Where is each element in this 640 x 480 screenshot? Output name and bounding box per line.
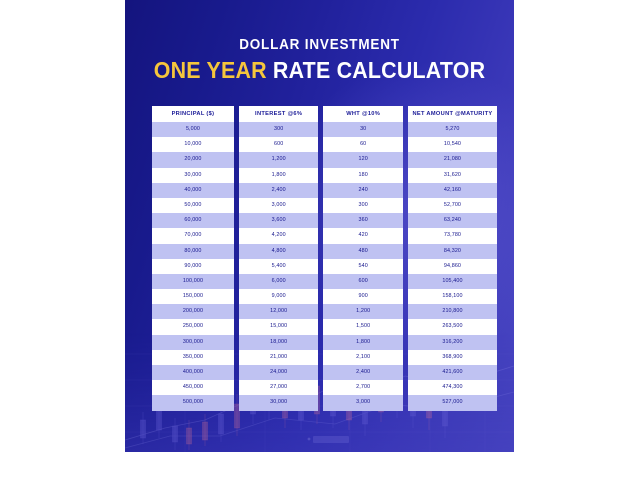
table-cell: 263,500 <box>408 319 497 334</box>
table-cell: 527,000 <box>408 395 497 410</box>
table-cell: 60 <box>323 137 403 152</box>
table-cell: 1,500 <box>323 319 403 334</box>
table-cell: 300,000 <box>152 335 234 350</box>
table-cell: 9,000 <box>239 289 319 304</box>
table-cell: 600 <box>239 137 319 152</box>
table-column: NET AMOUNT @MATURITY5,27010,54021,08031,… <box>408 106 497 411</box>
table-cell: 5,400 <box>239 259 319 274</box>
table-cell: 30,000 <box>239 395 319 410</box>
table-header-cell: INTEREST @6% <box>239 106 319 122</box>
table-cell: 300 <box>323 198 403 213</box>
table-cell: 15,000 <box>239 319 319 334</box>
table-cell: 4,200 <box>239 228 319 243</box>
table-cell: 3,000 <box>239 198 319 213</box>
table-cell: 5,000 <box>152 122 234 137</box>
table-cell: 105,400 <box>408 274 497 289</box>
table-cell: 120 <box>323 152 403 167</box>
table-header-cell: WHT @10% <box>323 106 403 122</box>
table-cell: 30 <box>323 122 403 137</box>
table-cell: 350,000 <box>152 350 234 365</box>
table-cell: 368,900 <box>408 350 497 365</box>
table-column: PRINCIPAL ($)5,00010,00020,00030,00040,0… <box>152 106 234 411</box>
table-cell: 158,100 <box>408 289 497 304</box>
table-cell: 450,000 <box>152 380 234 395</box>
table-cell: 5,270 <box>408 122 497 137</box>
table-cell: 21,080 <box>408 152 497 167</box>
table-cell: 316,200 <box>408 335 497 350</box>
table-cell: 300 <box>239 122 319 137</box>
table-cell: 360 <box>323 213 403 228</box>
table-cell: 52,700 <box>408 198 497 213</box>
table-cell: 10,000 <box>152 137 234 152</box>
table-cell: 100,000 <box>152 274 234 289</box>
rate-table: PRINCIPAL ($)5,00010,00020,00030,00040,0… <box>152 106 497 411</box>
table-cell: 31,620 <box>408 168 497 183</box>
table-cell: 94,860 <box>408 259 497 274</box>
table-cell: 1,800 <box>239 168 319 183</box>
table-header-cell: NET AMOUNT @MATURITY <box>408 106 497 122</box>
table-cell: 42,160 <box>408 183 497 198</box>
table-cell: 420 <box>323 228 403 243</box>
title-rest: RATE CALCULATOR <box>273 57 485 83</box>
poster-headings: DOLLAR INVESTMENT ONE YEAR RATE CALCULAT… <box>125 38 514 82</box>
table-cell: 500,000 <box>152 395 234 410</box>
table-header-cell: PRINCIPAL ($) <box>152 106 234 122</box>
poster-canvas: DOLLAR INVESTMENT ONE YEAR RATE CALCULAT… <box>125 0 514 452</box>
table-cell: 50,000 <box>152 198 234 213</box>
table-cell: 1,200 <box>239 152 319 167</box>
table-cell: 27,000 <box>239 380 319 395</box>
table-cell: 60,000 <box>152 213 234 228</box>
title-highlight: ONE YEAR <box>154 57 267 83</box>
table-cell: 2,100 <box>323 350 403 365</box>
table-cell: 21,000 <box>239 350 319 365</box>
table-cell: 80,000 <box>152 244 234 259</box>
table-column: INTEREST @6%3006001,2001,8002,4003,0003,… <box>239 106 319 411</box>
table-column: WHT @10%30601201802403003604204805406009… <box>323 106 403 411</box>
table-cell: 1,800 <box>323 335 403 350</box>
table-cell: 240 <box>323 183 403 198</box>
table-cell: 474,300 <box>408 380 497 395</box>
table-cell: 4,800 <box>239 244 319 259</box>
table-cell: 73,780 <box>408 228 497 243</box>
table-cell: 200,000 <box>152 304 234 319</box>
table-cell: 12,000 <box>239 304 319 319</box>
table-cell: 84,320 <box>408 244 497 259</box>
table-cell: 2,700 <box>323 380 403 395</box>
table-cell: 150,000 <box>152 289 234 304</box>
table-cell: 900 <box>323 289 403 304</box>
table-cell: 3,000 <box>323 395 403 410</box>
table-cell: 90,000 <box>152 259 234 274</box>
table-cell: 30,000 <box>152 168 234 183</box>
table-cell: 400,000 <box>152 365 234 380</box>
table-cell: 250,000 <box>152 319 234 334</box>
table-cell: 3,600 <box>239 213 319 228</box>
table-cell: 63,240 <box>408 213 497 228</box>
table-cell: 600 <box>323 274 403 289</box>
table-cell: 421,600 <box>408 365 497 380</box>
table-cell: 180 <box>323 168 403 183</box>
table-cell: 2,400 <box>323 365 403 380</box>
table-cell: 70,000 <box>152 228 234 243</box>
table-cell: 1,200 <box>323 304 403 319</box>
table-cell: 480 <box>323 244 403 259</box>
table-cell: 540 <box>323 259 403 274</box>
table-cell: 6,000 <box>239 274 319 289</box>
title-top: DOLLAR INVESTMENT <box>139 38 501 54</box>
table-cell: 210,800 <box>408 304 497 319</box>
table-cell: 24,000 <box>239 365 319 380</box>
table-cell: 20,000 <box>152 152 234 167</box>
table-cell: 18,000 <box>239 335 319 350</box>
table-cell: 40,000 <box>152 183 234 198</box>
table-cell: 2,400 <box>239 183 319 198</box>
page-title: ONE YEAR RATE CALCULATOR <box>139 58 501 82</box>
table-cell: 10,540 <box>408 137 497 152</box>
